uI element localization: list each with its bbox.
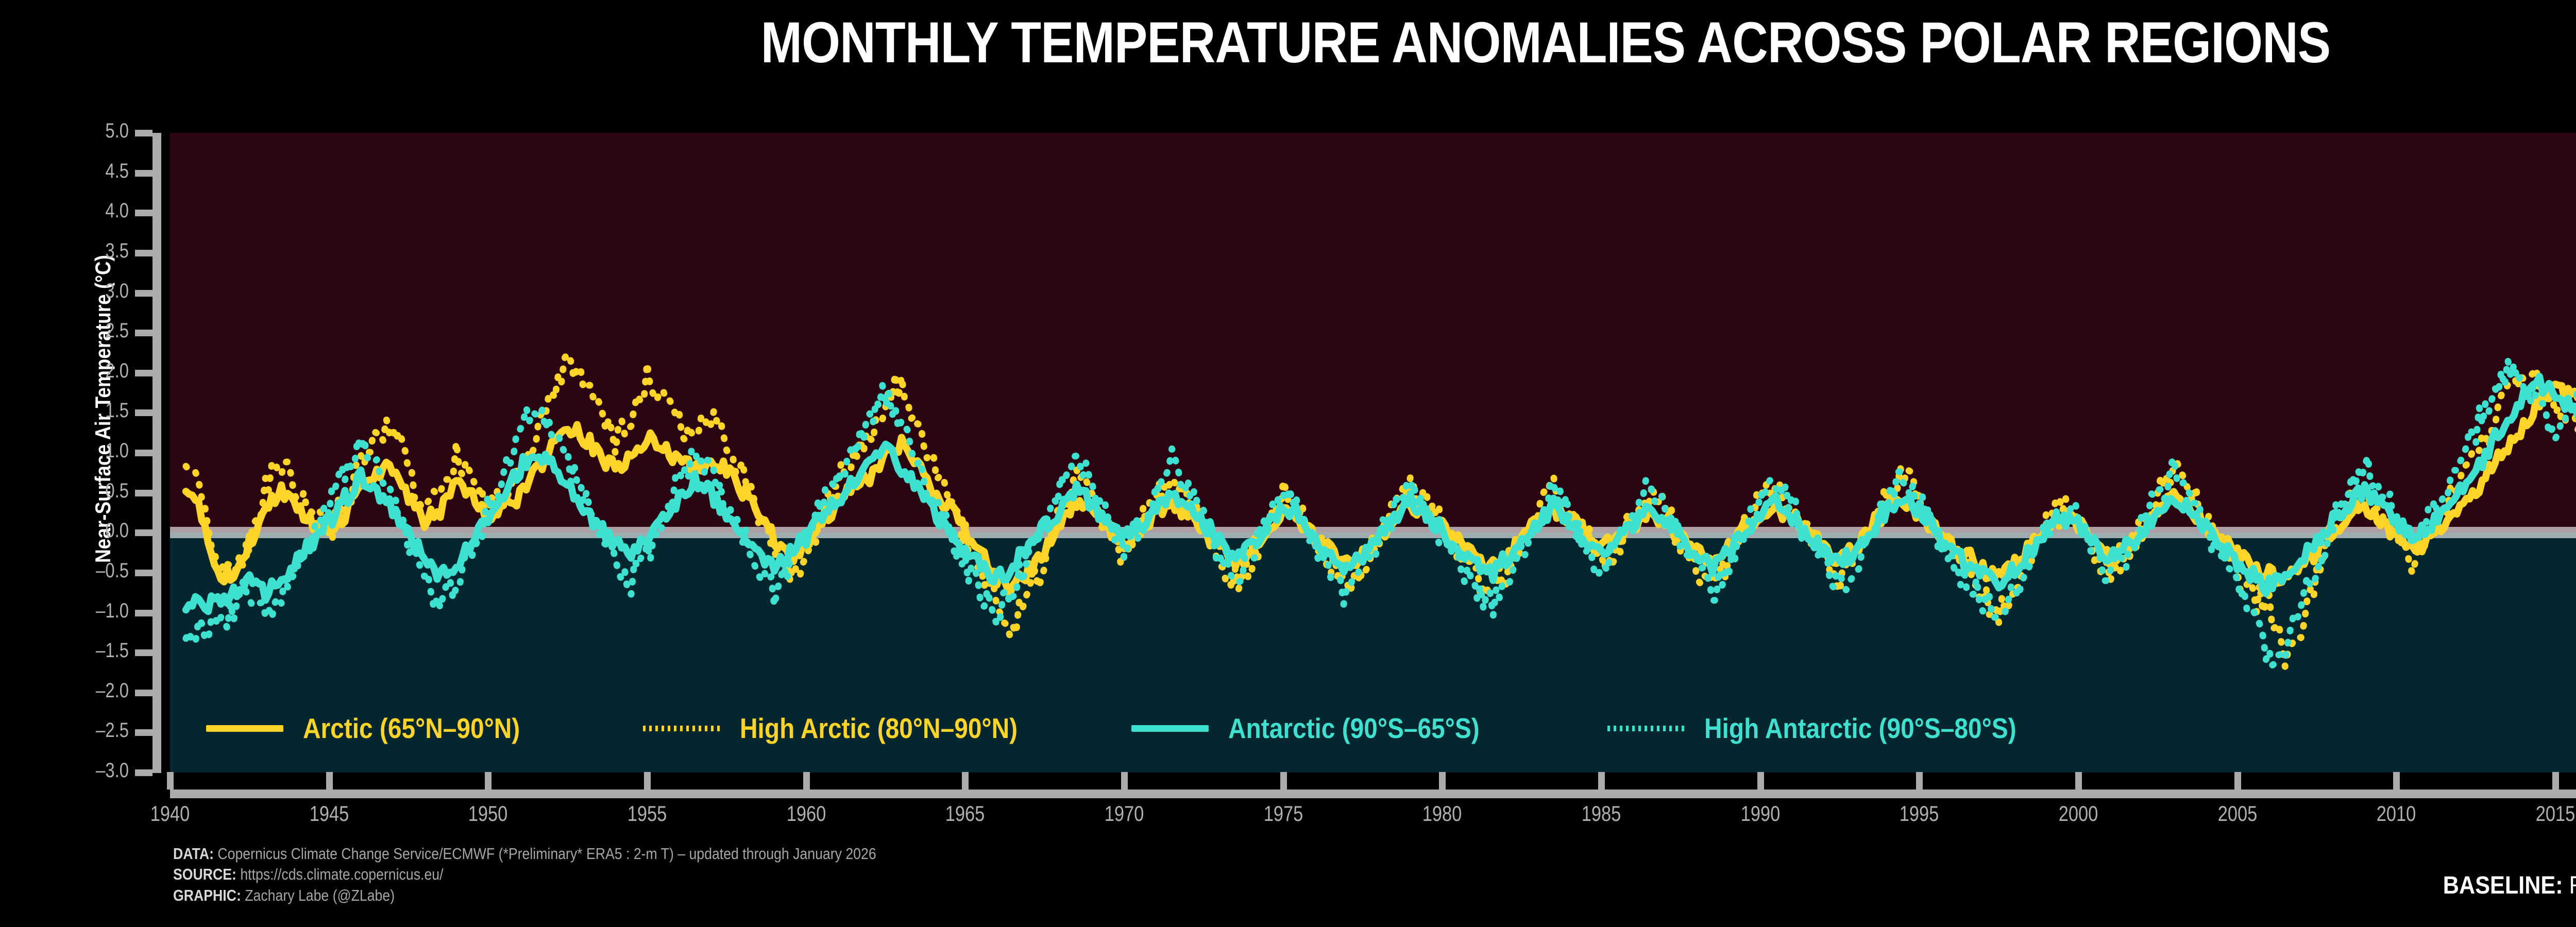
credits-block: DATA: Copernicus Climate Change Service/…	[173, 844, 991, 906]
credit-text-graphic: Zachary Labe (@ZLabe)	[241, 886, 395, 904]
y-axis-tick-label: 5.0	[36, 119, 129, 143]
x-axis-tick	[485, 772, 492, 789]
x-axis-tick	[1757, 772, 1764, 789]
legend-label-high-antarctic: High Antarctic (90°S–80°S)	[1704, 712, 2016, 745]
y-axis-tick-label: 4.5	[36, 160, 129, 183]
y-axis-tick	[135, 769, 152, 776]
x-axis-tick	[2075, 772, 2082, 789]
x-axis-tick-label: 1940	[115, 801, 225, 826]
y-axis-tick-label: 2.0	[36, 359, 129, 383]
y-axis-tick-label: –3.0	[36, 759, 129, 782]
credit-row-source: SOURCE: https://cds.climate.copernicus.e…	[173, 864, 876, 885]
y-axis-tick-label: –1.0	[36, 599, 129, 623]
y-axis-tick	[135, 210, 152, 216]
y-axis-tick	[135, 570, 152, 576]
x-axis-spine	[170, 789, 2576, 798]
series-line-high-dotted	[186, 322, 2576, 665]
y-axis-tick-label: 3.5	[36, 239, 129, 263]
legend-label-arctic: Arctic (65°N–90°N)	[303, 712, 520, 745]
y-axis-tick	[135, 450, 152, 456]
y-axis-tick	[135, 130, 152, 136]
x-axis-tick-label: 1955	[592, 801, 702, 826]
chart-legend: Arctic (65°N–90°N) High Arctic (80°N–90°…	[206, 705, 2576, 752]
y-axis-tick-label: 1.5	[36, 399, 129, 422]
series-line-antarctic-solid	[186, 365, 2576, 611]
series-lines	[170, 133, 2576, 772]
legend-swatch-high-arctic-dotted	[643, 726, 720, 731]
y-axis-tick	[135, 370, 152, 376]
legend-swatch-high-antarctic-dotted	[1607, 726, 1685, 731]
x-axis-tick	[1439, 772, 1446, 789]
legend-item-high-antarctic[interactable]: High Antarctic (90°S–80°S)	[1607, 712, 2063, 745]
x-axis-tick	[2552, 772, 2559, 789]
y-axis-tick-label: –2.0	[36, 679, 129, 702]
x-axis-tick	[803, 772, 810, 789]
x-axis-tick	[1598, 772, 1605, 789]
x-axis-tick	[1916, 772, 1923, 789]
x-axis-tick-label: 1990	[1705, 801, 1815, 826]
y-axis-tick	[135, 729, 152, 736]
legend-item-arctic[interactable]: Arctic (65°N–90°N)	[206, 712, 552, 745]
x-axis-tick	[2393, 772, 2400, 789]
page-title: MONTHLY TEMPERATURE ANOMALIES ACROSS POL…	[216, 9, 2576, 76]
x-axis-tick-label: 1980	[1387, 801, 1497, 826]
x-axis-tick-label: 1950	[433, 801, 543, 826]
baseline-note: BASELINE: Relative to 1951-1980; 12-mont…	[2443, 871, 2576, 900]
x-axis-tick	[2234, 772, 2241, 789]
x-axis-tick-label: 1960	[751, 801, 861, 826]
y-axis-tick-label: 0.0	[36, 519, 129, 542]
x-axis-tick-label: 1970	[1069, 801, 1179, 826]
x-axis-tick	[1280, 772, 1287, 789]
credit-text-source[interactable]: https://cds.climate.copernicus.eu/	[236, 865, 444, 883]
x-axis-tick-label: 2015	[2500, 801, 2576, 826]
credit-row-graphic: GRAPHIC: Zachary Labe (@ZLabe)	[173, 885, 876, 906]
x-axis-tick-label: 1945	[274, 801, 384, 826]
y-axis-tick	[135, 529, 152, 536]
legend-label-antarctic: Antarctic (90°S–65°S)	[1228, 712, 1480, 745]
legend-swatch-arctic-solid	[206, 725, 283, 732]
y-axis-tick-label: –0.5	[36, 559, 129, 582]
x-axis-tick-label: 2010	[2342, 801, 2451, 826]
y-axis-tick	[135, 330, 152, 336]
legend-label-high-arctic: High Arctic (80°N–90°N)	[740, 712, 1018, 745]
x-axis-tick	[962, 772, 969, 789]
credit-text-data: Copernicus Climate Change Service/ECMWF …	[214, 845, 876, 863]
x-axis-tick	[1121, 772, 1128, 789]
y-axis-tick	[135, 610, 152, 616]
y-axis-tick	[135, 250, 152, 256]
y-axis-tick	[135, 649, 152, 656]
legend-swatch-antarctic-solid	[1131, 725, 1209, 732]
y-axis-tick-label: 0.5	[36, 479, 129, 503]
y-axis-tick	[135, 290, 152, 297]
credit-label-source: SOURCE:	[173, 865, 236, 883]
credit-row-data: DATA: Copernicus Climate Change Service/…	[173, 844, 876, 864]
x-axis-tick-label: 2005	[2182, 801, 2292, 826]
legend-item-antarctic[interactable]: Antarctic (90°S–65°S)	[1131, 712, 1517, 745]
y-axis-tick-label: 3.0	[36, 280, 129, 303]
x-axis-tick-label: 2000	[2023, 801, 2133, 826]
y-axis-spine-left	[152, 133, 161, 773]
x-axis-tick-label: 1975	[1228, 801, 1338, 826]
plot-area	[170, 133, 2576, 772]
y-axis-tick-label: 4.0	[36, 199, 129, 222]
x-axis-tick-label: 1985	[1546, 801, 1656, 826]
x-axis-tick-label: 1965	[910, 801, 1020, 826]
y-axis-tick	[135, 490, 152, 496]
credit-label-graphic: GRAPHIC:	[173, 886, 241, 904]
y-axis-tick-label: 2.5	[36, 319, 129, 342]
y-axis-tick	[135, 170, 152, 177]
credit-label-data: DATA:	[173, 845, 214, 863]
y-axis-tick-label: –2.5	[36, 719, 129, 742]
y-axis-tick-label: 1.0	[36, 439, 129, 462]
y-axis-tick-label: –1.5	[36, 639, 129, 662]
x-axis-tick	[644, 772, 651, 789]
x-axis-tick	[326, 772, 333, 789]
y-axis-tick	[135, 409, 152, 416]
legend-item-high-arctic[interactable]: High Arctic (80°N–90°N)	[643, 712, 1059, 745]
baseline-text: Relative to 1951-1980; 12-month running …	[2563, 872, 2576, 899]
y-axis-tick	[135, 690, 152, 696]
x-axis-tick	[167, 772, 174, 789]
baseline-label: BASELINE:	[2443, 872, 2563, 899]
x-axis-tick-label: 1995	[1865, 801, 1974, 826]
